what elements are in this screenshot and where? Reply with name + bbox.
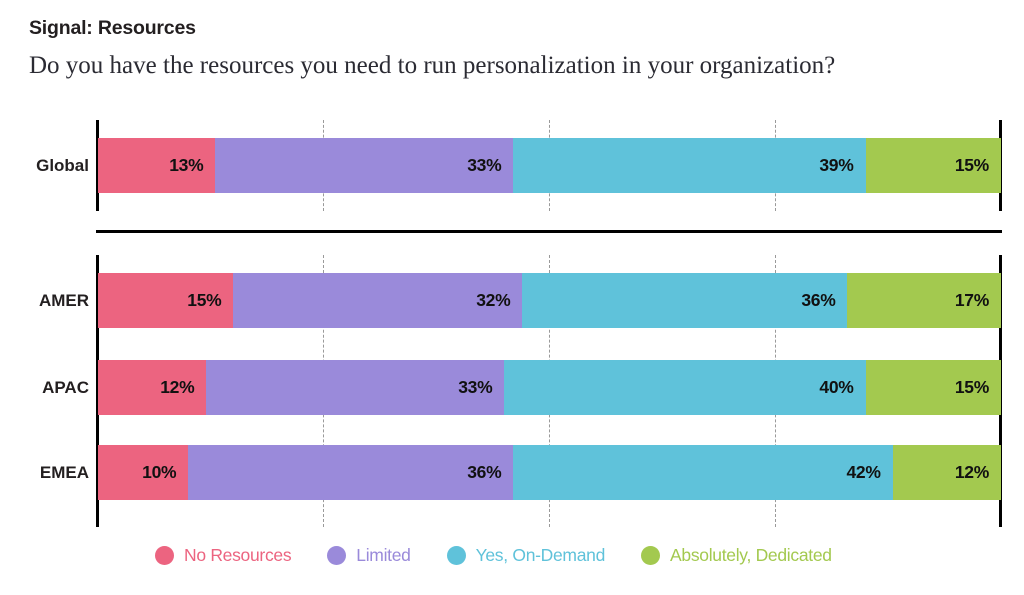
legend-item-label: Yes, On-Demand bbox=[476, 545, 605, 566]
bar-segment-limited[interactable]: 36% bbox=[188, 445, 513, 500]
legend-item-absolutely-dedicated[interactable]: Absolutely, Dedicated bbox=[641, 545, 832, 566]
bar-segment-absolutely-dedicated[interactable]: 12% bbox=[893, 445, 1001, 500]
legend-item-label: Limited bbox=[356, 545, 410, 566]
bar-track-apac: 12% 33% 40% 15% bbox=[98, 360, 1001, 415]
chart-plot-area: Global 13% 33% 39% 15% AMER 15% 32% 36% … bbox=[0, 0, 1024, 595]
bar-track-amer: 15% 32% 36% 17% bbox=[98, 273, 1001, 328]
row-label-amer: AMER bbox=[5, 273, 89, 328]
bar-segment-yes-on-demand[interactable]: 42% bbox=[513, 445, 892, 500]
row-label-global: Global bbox=[5, 138, 89, 193]
legend-item-no-resources[interactable]: No Resources bbox=[155, 545, 291, 566]
group-divider bbox=[96, 230, 1002, 233]
bar-row-apac[interactable]: APAC 12% 33% 40% 15% bbox=[0, 360, 1024, 415]
legend-item-label: Absolutely, Dedicated bbox=[670, 545, 832, 566]
bar-segment-limited[interactable]: 33% bbox=[206, 360, 504, 415]
legend-item-yes-on-demand[interactable]: Yes, On-Demand bbox=[447, 545, 605, 566]
bar-segment-absolutely-dedicated[interactable]: 17% bbox=[847, 273, 1001, 328]
bar-row-amer[interactable]: AMER 15% 32% 36% 17% bbox=[0, 273, 1024, 328]
legend-dot-icon bbox=[155, 546, 174, 565]
bar-segment-no-resources[interactable]: 10% bbox=[98, 445, 188, 500]
bar-segment-no-resources[interactable]: 12% bbox=[98, 360, 206, 415]
bar-track-emea: 10% 36% 42% 12% bbox=[98, 445, 1001, 500]
legend-dot-icon bbox=[641, 546, 660, 565]
bar-segment-yes-on-demand[interactable]: 36% bbox=[522, 273, 847, 328]
bar-segment-no-resources[interactable]: 13% bbox=[98, 138, 215, 193]
row-label-emea: EMEA bbox=[5, 445, 89, 500]
bar-row-global[interactable]: Global 13% 33% 39% 15% bbox=[0, 138, 1024, 193]
legend-item-limited[interactable]: Limited bbox=[327, 545, 410, 566]
bar-segment-absolutely-dedicated[interactable]: 15% bbox=[866, 360, 1001, 415]
bar-row-emea[interactable]: EMEA 10% 36% 42% 12% bbox=[0, 445, 1024, 500]
bar-segment-yes-on-demand[interactable]: 40% bbox=[504, 360, 865, 415]
legend-item-label: No Resources bbox=[184, 545, 291, 566]
bar-segment-limited[interactable]: 33% bbox=[215, 138, 513, 193]
bar-segment-yes-on-demand[interactable]: 39% bbox=[513, 138, 865, 193]
chart-legend: No Resources Limited Yes, On-Demand Abso… bbox=[155, 545, 832, 566]
bar-track-global: 13% 33% 39% 15% bbox=[98, 138, 1001, 193]
bar-segment-absolutely-dedicated[interactable]: 15% bbox=[866, 138, 1001, 193]
legend-dot-icon bbox=[327, 546, 346, 565]
bar-segment-no-resources[interactable]: 15% bbox=[98, 273, 233, 328]
bar-segment-limited[interactable]: 32% bbox=[233, 273, 522, 328]
legend-dot-icon bbox=[447, 546, 466, 565]
row-label-apac: APAC bbox=[5, 360, 89, 415]
